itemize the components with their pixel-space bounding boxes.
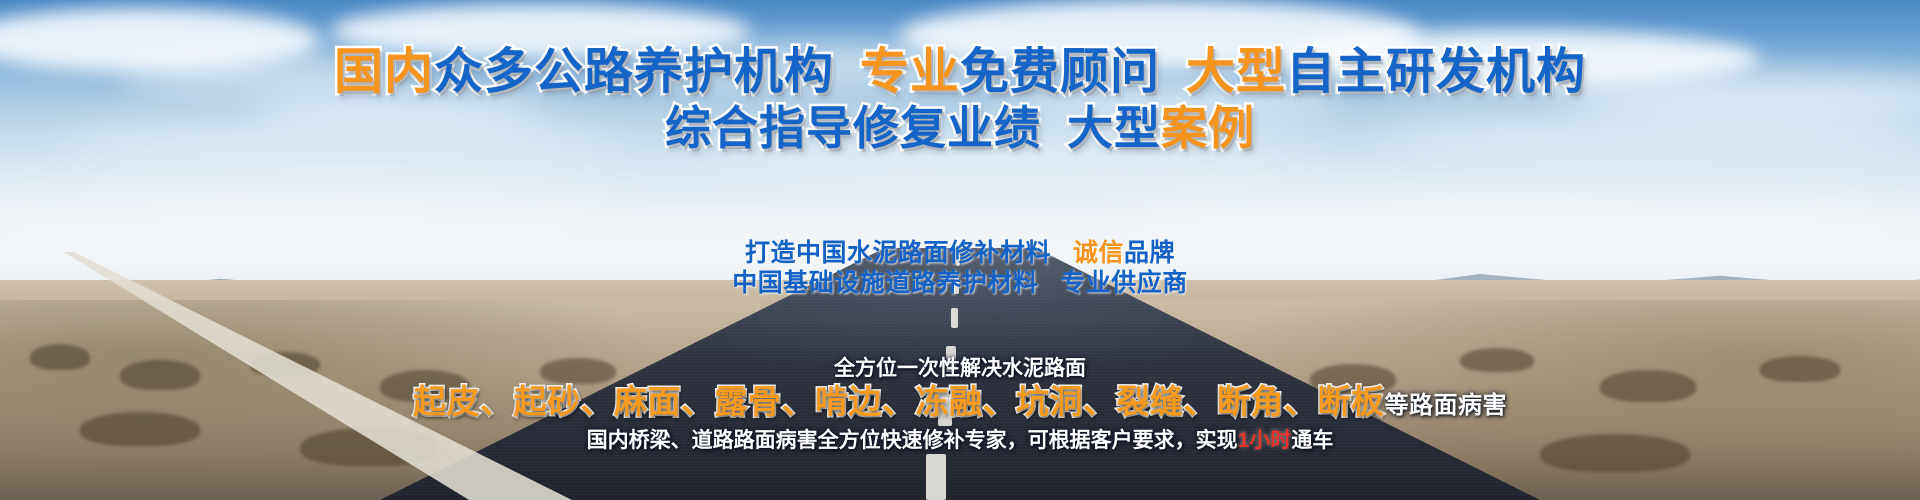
- subtitle-line-1: 打造中国水泥路面修补材料诚信品牌: [0, 238, 1920, 269]
- overlay-disease-list: 起皮、起砂、麻面、露骨、啃边、冻融、坑洞、裂缝、断角、断板等路面病害: [0, 382, 1920, 426]
- promo-banner: 国内众多公路养护机构专业免费顾问大型自主研发机构 综合指导修复业绩大型案例 打造…: [0, 0, 1920, 500]
- subtitle-line-2: 中国基础设施道路养护材料专业供应商: [0, 268, 1920, 299]
- overlay-tagline: 国内桥梁、道路路面病害全方位快速修补专家，可根据客户要求，实现1小时通车: [0, 428, 1920, 454]
- headline-segment: 自主研发机构: [1286, 45, 1586, 99]
- subtitle-segment: 打造中国水泥路面修补材料: [745, 239, 1051, 267]
- headline-segment: 众多公路养护机构: [434, 45, 834, 99]
- subtitle-segment: 品牌: [1124, 239, 1175, 267]
- headline-segment: 综合指导修复业绩: [665, 102, 1041, 154]
- subtitle-segment: 诚信: [1073, 239, 1124, 267]
- headline-segment: 免费顾问: [960, 45, 1160, 99]
- headline-line-1: 国内众多公路养护机构专业免费顾问大型自主研发机构: [0, 44, 1920, 100]
- subtitle-segment: 中国基础设施道路养护材料: [732, 269, 1038, 297]
- headline-segment: 案例: [1161, 102, 1255, 154]
- headline-segment: 大型: [1186, 45, 1286, 99]
- headline-line-2: 综合指导修复业绩大型案例: [0, 102, 1920, 154]
- banner-text-overlay: 国内众多公路养护机构专业免费顾问大型自主研发机构 综合指导修复业绩大型案例 打造…: [0, 0, 1920, 500]
- subtitle-segment: 专业供应商: [1060, 269, 1188, 297]
- disease-list-tail: 等路面病害: [1385, 392, 1508, 419]
- headline-segment: 专业: [860, 45, 960, 99]
- tagline-before: 国内桥梁、道路路面病害全方位快速修补专家，可根据客户要求，实现: [587, 429, 1238, 452]
- tagline-after: 通车: [1291, 429, 1333, 452]
- headline-segment: 国内: [334, 45, 434, 99]
- disease-list-highlight: 起皮、起砂、麻面、露骨、啃边、冻融、坑洞、裂缝、断角、断板: [413, 383, 1385, 420]
- overlay-lead-text: 全方位一次性解决水泥路面: [0, 356, 1920, 382]
- tagline-highlight: 1小时: [1238, 429, 1292, 452]
- headline-segment: 大型: [1067, 102, 1161, 154]
